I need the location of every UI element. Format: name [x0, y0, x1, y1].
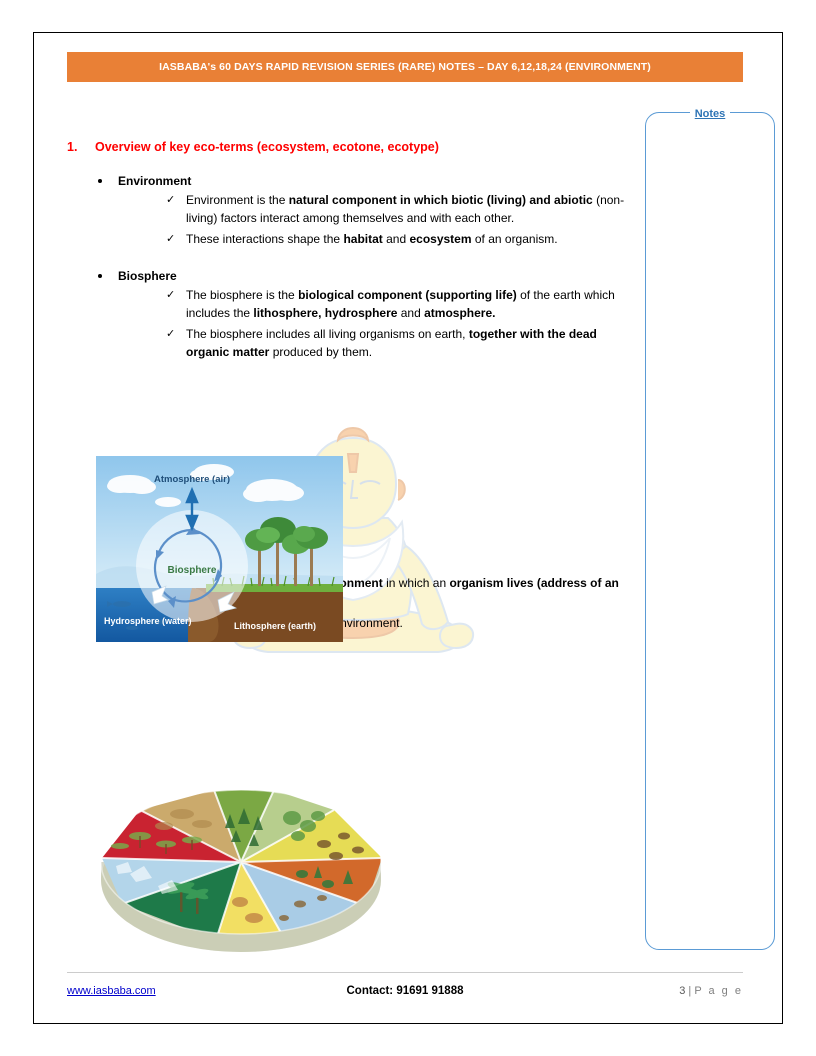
sub-point: ✓ These interactions shape the habitat a…	[67, 231, 637, 249]
bullet-dot-icon	[98, 179, 102, 183]
notes-label-text: Notes	[690, 108, 731, 120]
page-number-value: 3	[679, 985, 685, 997]
biosphere-diagram-image: Atmosphere (air) Biosphere Hydrosphere (…	[96, 456, 343, 642]
bullet-label: Biosphere	[118, 269, 177, 283]
sub-point-text: These interactions shape the habitat and…	[186, 232, 558, 246]
bullet-label: Environment	[118, 174, 191, 188]
footer-divider	[67, 972, 743, 973]
label-atmosphere: Atmosphere (air)	[154, 474, 230, 485]
sub-point: ✓ The biosphere includes all living orga…	[67, 326, 637, 361]
banner-title: IASBABA's 60 DAYS RAPID REVISION SERIES …	[159, 61, 651, 73]
footer-website-link[interactable]: www.iasbaba.com	[67, 985, 290, 997]
check-icon: ✓	[166, 192, 175, 208]
check-icon: ✓	[166, 287, 175, 303]
sub-point: ✓ Environment is the natural component i…	[67, 192, 637, 227]
page-separator: |	[688, 985, 691, 997]
document-page: IASBABA's 60 DAYS RAPID REVISION SERIES …	[0, 0, 816, 1056]
section-heading-1: 1. Overview of key eco-terms (ecosystem,…	[67, 140, 637, 154]
sub-point-text: Environment is the natural component in …	[186, 193, 624, 225]
heading-number: 1.	[67, 140, 95, 154]
bullet-biosphere: Biosphere	[67, 269, 637, 283]
check-icon: ✓	[166, 231, 175, 247]
label-lithosphere: Lithosphere (earth)	[234, 621, 316, 631]
heading-text: Overview of key eco-terms (ecosystem, ec…	[95, 140, 439, 154]
label-biosphere: Biosphere	[168, 565, 217, 576]
footer-page-number: 3 | P a g e	[520, 985, 743, 997]
bullet-environment: Environment	[67, 174, 637, 188]
check-icon: ✓	[166, 326, 175, 342]
footer-contact: Contact: 91691 91888	[290, 985, 520, 997]
notes-panel-label: Notes	[645, 104, 775, 122]
notes-panel[interactable]	[645, 112, 775, 950]
biome-wheel-image	[96, 762, 386, 952]
page-footer: www.iasbaba.com Contact: 91691 91888 3 |…	[67, 980, 743, 1002]
header-banner: IASBABA's 60 DAYS RAPID REVISION SERIES …	[67, 52, 743, 82]
sub-point: ✓ The biosphere is the biological compon…	[67, 287, 637, 322]
sub-point-text: The biosphere includes all living organi…	[186, 327, 597, 359]
bullet-dot-icon	[98, 274, 102, 278]
label-hydrosphere: Hydrosphere (water)	[104, 616, 192, 626]
sub-point-text: The biosphere is the biological componen…	[186, 288, 615, 320]
page-word: P a g e	[694, 985, 743, 997]
